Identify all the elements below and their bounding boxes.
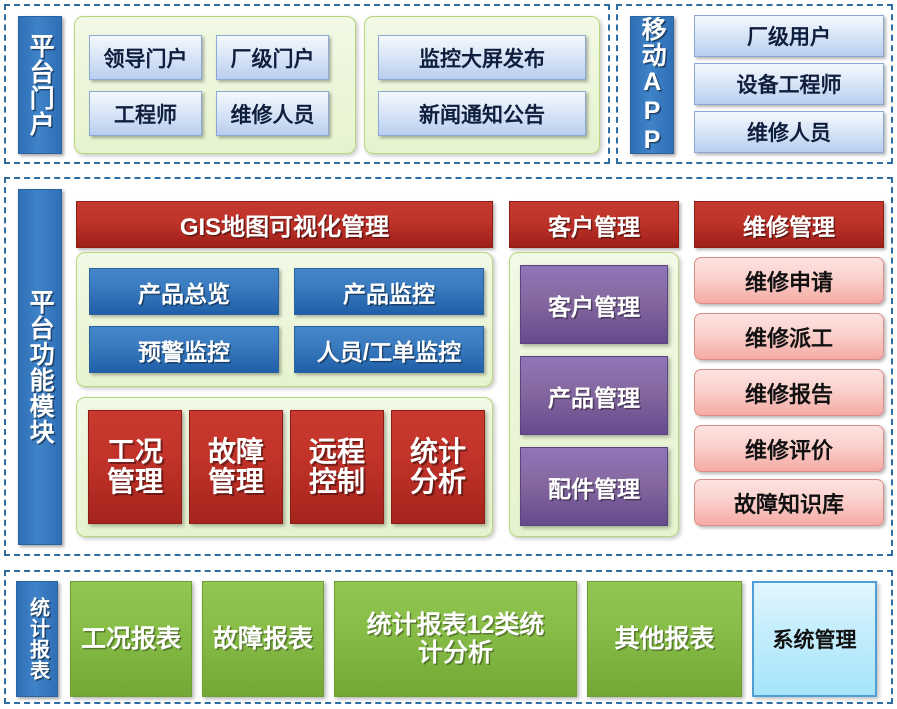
section-label-platform-modules: 平台功能模块 [18, 189, 62, 545]
gis-button-product-overview-label: 产品总览 [138, 275, 230, 309]
maintenance-management-header-label: 维修管理 [743, 208, 835, 242]
section-platform-portal: 平台门户 领导门户 厂级门户 工程师 维修人员 监控大屏发布 新闻通知公告 [4, 4, 610, 164]
maintenance-button-repair-evaluation[interactable]: 维修评价 [694, 425, 884, 472]
mobile-button-repair-staff-label: 维修人员 [747, 117, 831, 147]
maintenance-button-repair-report[interactable]: 维修报告 [694, 369, 884, 416]
maintenance-management-header[interactable]: 维修管理 [694, 201, 884, 248]
core-module-remote-control-label: 远程 控制 [309, 437, 365, 497]
portal-button-repair-staff[interactable]: 维修人员 [216, 91, 329, 136]
report-tile-condition-report-label: 工况报表 [81, 625, 181, 653]
mobile-button-repair-staff[interactable]: 维修人员 [694, 111, 884, 153]
portal-button-factory-label: 厂级门户 [231, 43, 315, 73]
maintenance-button-repair-evaluation-label: 维修评价 [745, 433, 833, 465]
customer-tile-parts-management-label: 配件管理 [548, 470, 640, 504]
core-module-remote-control[interactable]: 远程 控制 [290, 410, 384, 524]
section-platform-modules: 平台功能模块 GIS地图可视化管理 产品总览 产品监控 预警监控 人员/工单监控… [4, 177, 893, 556]
report-tile-other-report-label: 其他报表 [614, 625, 714, 653]
gis-button-product-monitor-label: 产品监控 [343, 275, 435, 309]
portal-button-monitor-bigscreen[interactable]: 监控大屏发布 [378, 35, 586, 80]
section-label-mobile-app: 移动APP [630, 16, 674, 154]
mobile-button-factory-user[interactable]: 厂级用户 [694, 15, 884, 57]
portal-button-repair-staff-label: 维修人员 [231, 99, 315, 129]
mobile-button-equipment-engineer[interactable]: 设备工程师 [694, 63, 884, 105]
gis-header-label: GIS地图可视化管理 [180, 207, 389, 242]
section-label-platform-portal-text: 平台门户 [27, 33, 53, 137]
gis-button-alarm-monitor-label: 预警监控 [138, 333, 230, 367]
customer-tile-product-management[interactable]: 产品管理 [520, 356, 668, 435]
portal-button-news-notice-label: 新闻通知公告 [419, 99, 545, 129]
report-tile-other-report[interactable]: 其他报表 [587, 581, 742, 697]
report-tile-statistical-analysis-12[interactable]: 统计报表12类统 计分析 [334, 581, 577, 697]
customer-tile-parts-management[interactable]: 配件管理 [520, 447, 668, 526]
core-module-statistics-analysis[interactable]: 统计 分析 [391, 410, 485, 524]
gis-button-product-monitor[interactable]: 产品监控 [294, 268, 484, 315]
report-tile-system-management[interactable]: 系统管理 [752, 581, 877, 697]
gis-button-product-overview[interactable]: 产品总览 [89, 268, 279, 315]
section-mobile-app: 移动APP 厂级用户 设备工程师 维修人员 [616, 4, 893, 164]
maintenance-button-repair-request-label: 维修申请 [745, 265, 833, 297]
gis-header[interactable]: GIS地图可视化管理 [76, 201, 493, 248]
section-statistical-reports: 统计报表 工况报表 故障报表 统计报表12类统 计分析 其他报表 系统管理 [4, 570, 893, 704]
section-label-platform-portal: 平台门户 [18, 16, 62, 154]
maintenance-button-repair-request[interactable]: 维修申请 [694, 257, 884, 304]
gis-button-alarm-monitor[interactable]: 预警监控 [89, 326, 279, 373]
portal-button-engineer[interactable]: 工程师 [89, 91, 202, 136]
portal-button-leader-label: 领导门户 [104, 43, 188, 73]
report-tile-condition-report[interactable]: 工况报表 [70, 581, 192, 697]
portal-button-factory[interactable]: 厂级门户 [216, 35, 329, 80]
maintenance-button-repair-report-label: 维修报告 [745, 377, 833, 409]
portal-button-monitor-bigscreen-label: 监控大屏发布 [419, 43, 545, 73]
portal-button-news-notice[interactable]: 新闻通知公告 [378, 91, 586, 136]
core-module-condition-management[interactable]: 工况 管理 [88, 410, 182, 524]
section-label-mobile-app-text: 移动APP [639, 16, 665, 154]
customer-management-header[interactable]: 客户管理 [509, 201, 679, 248]
core-module-statistics-analysis-label: 统计 分析 [410, 437, 466, 497]
section-label-statistical-reports-text: 统计报表 [27, 597, 48, 681]
portal-button-engineer-label: 工程师 [114, 99, 177, 129]
report-tile-statistical-analysis-12-label: 统计报表12类统 计分析 [367, 611, 545, 667]
customer-tile-product-management-label: 产品管理 [548, 379, 640, 413]
core-module-condition-management-label: 工况 管理 [107, 437, 163, 497]
maintenance-button-repair-dispatch[interactable]: 维修派工 [694, 313, 884, 360]
mobile-button-equipment-engineer-label: 设备工程师 [737, 69, 842, 99]
architecture-diagram: 平台门户 领导门户 厂级门户 工程师 维修人员 监控大屏发布 新闻通知公告 移动… [0, 0, 897, 709]
customer-tile-customer-management[interactable]: 客户管理 [520, 265, 668, 344]
section-label-platform-modules-text: 平台功能模块 [27, 289, 53, 445]
maintenance-button-fault-knowledge-base[interactable]: 故障知识库 [694, 479, 884, 526]
core-module-fault-management-label: 故障 管理 [208, 437, 264, 497]
portal-button-leader[interactable]: 领导门户 [89, 35, 202, 80]
section-label-statistical-reports: 统计报表 [16, 581, 58, 697]
maintenance-button-repair-dispatch-label: 维修派工 [745, 321, 833, 353]
report-tile-fault-report[interactable]: 故障报表 [202, 581, 324, 697]
customer-management-header-label: 客户管理 [548, 208, 640, 242]
report-tile-system-management-label: 系统管理 [773, 624, 857, 654]
report-tile-fault-report-label: 故障报表 [213, 625, 313, 653]
mobile-button-factory-user-label: 厂级用户 [747, 21, 831, 51]
customer-tile-customer-management-label: 客户管理 [548, 288, 640, 322]
gis-button-staff-workorder-monitor[interactable]: 人员/工单监控 [294, 326, 484, 373]
maintenance-button-fault-knowledge-base-label: 故障知识库 [734, 487, 844, 519]
gis-button-staff-workorder-monitor-label: 人员/工单监控 [317, 333, 461, 367]
core-module-fault-management[interactable]: 故障 管理 [189, 410, 283, 524]
